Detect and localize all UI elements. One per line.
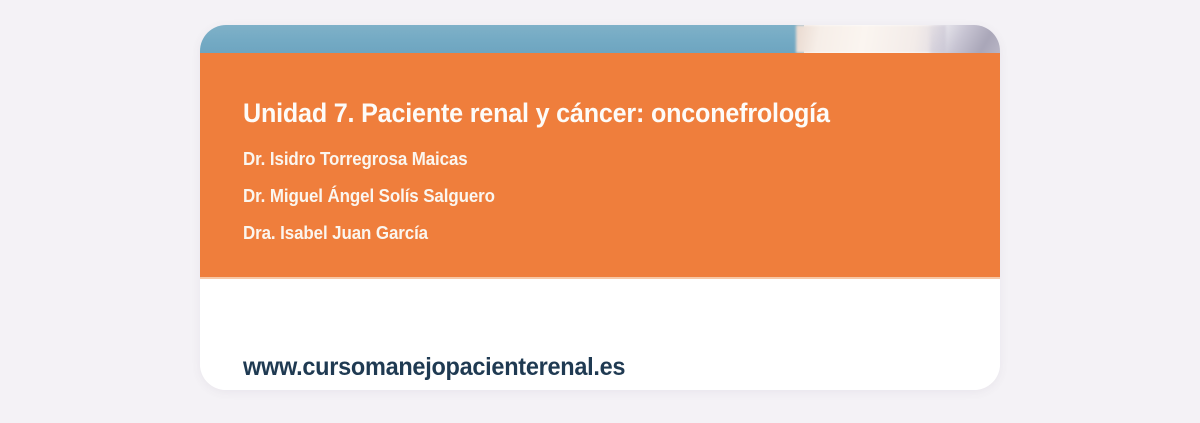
slide-canvas: Unidad 7. Paciente renal y cáncer: oncon… [0,0,1200,423]
author-name: Dr. Isidro Torregrosa Maicas [243,141,901,178]
course-website-url[interactable]: www.cursomanejopacienterenal.es [243,353,625,382]
banner-gray-diagonal [930,25,1000,53]
author-list: Dr. Isidro Torregrosa Maicas Dr. Miguel … [243,141,943,252]
slide-footer: www.cursomanejopacienterenal.es [200,279,1000,390]
author-name: Dra. Isabel Juan García [243,215,901,252]
author-name: Dr. Miguel Ángel Solís Salguero [243,178,901,215]
slide-title: Unidad 7. Paciente renal y cáncer: oncon… [243,99,894,129]
banner-strip [200,25,1000,53]
banner-blue-band [200,25,804,53]
presentation-slide-card: Unidad 7. Paciente renal y cáncer: oncon… [200,25,1000,390]
banner-cream-gradient [796,25,946,53]
